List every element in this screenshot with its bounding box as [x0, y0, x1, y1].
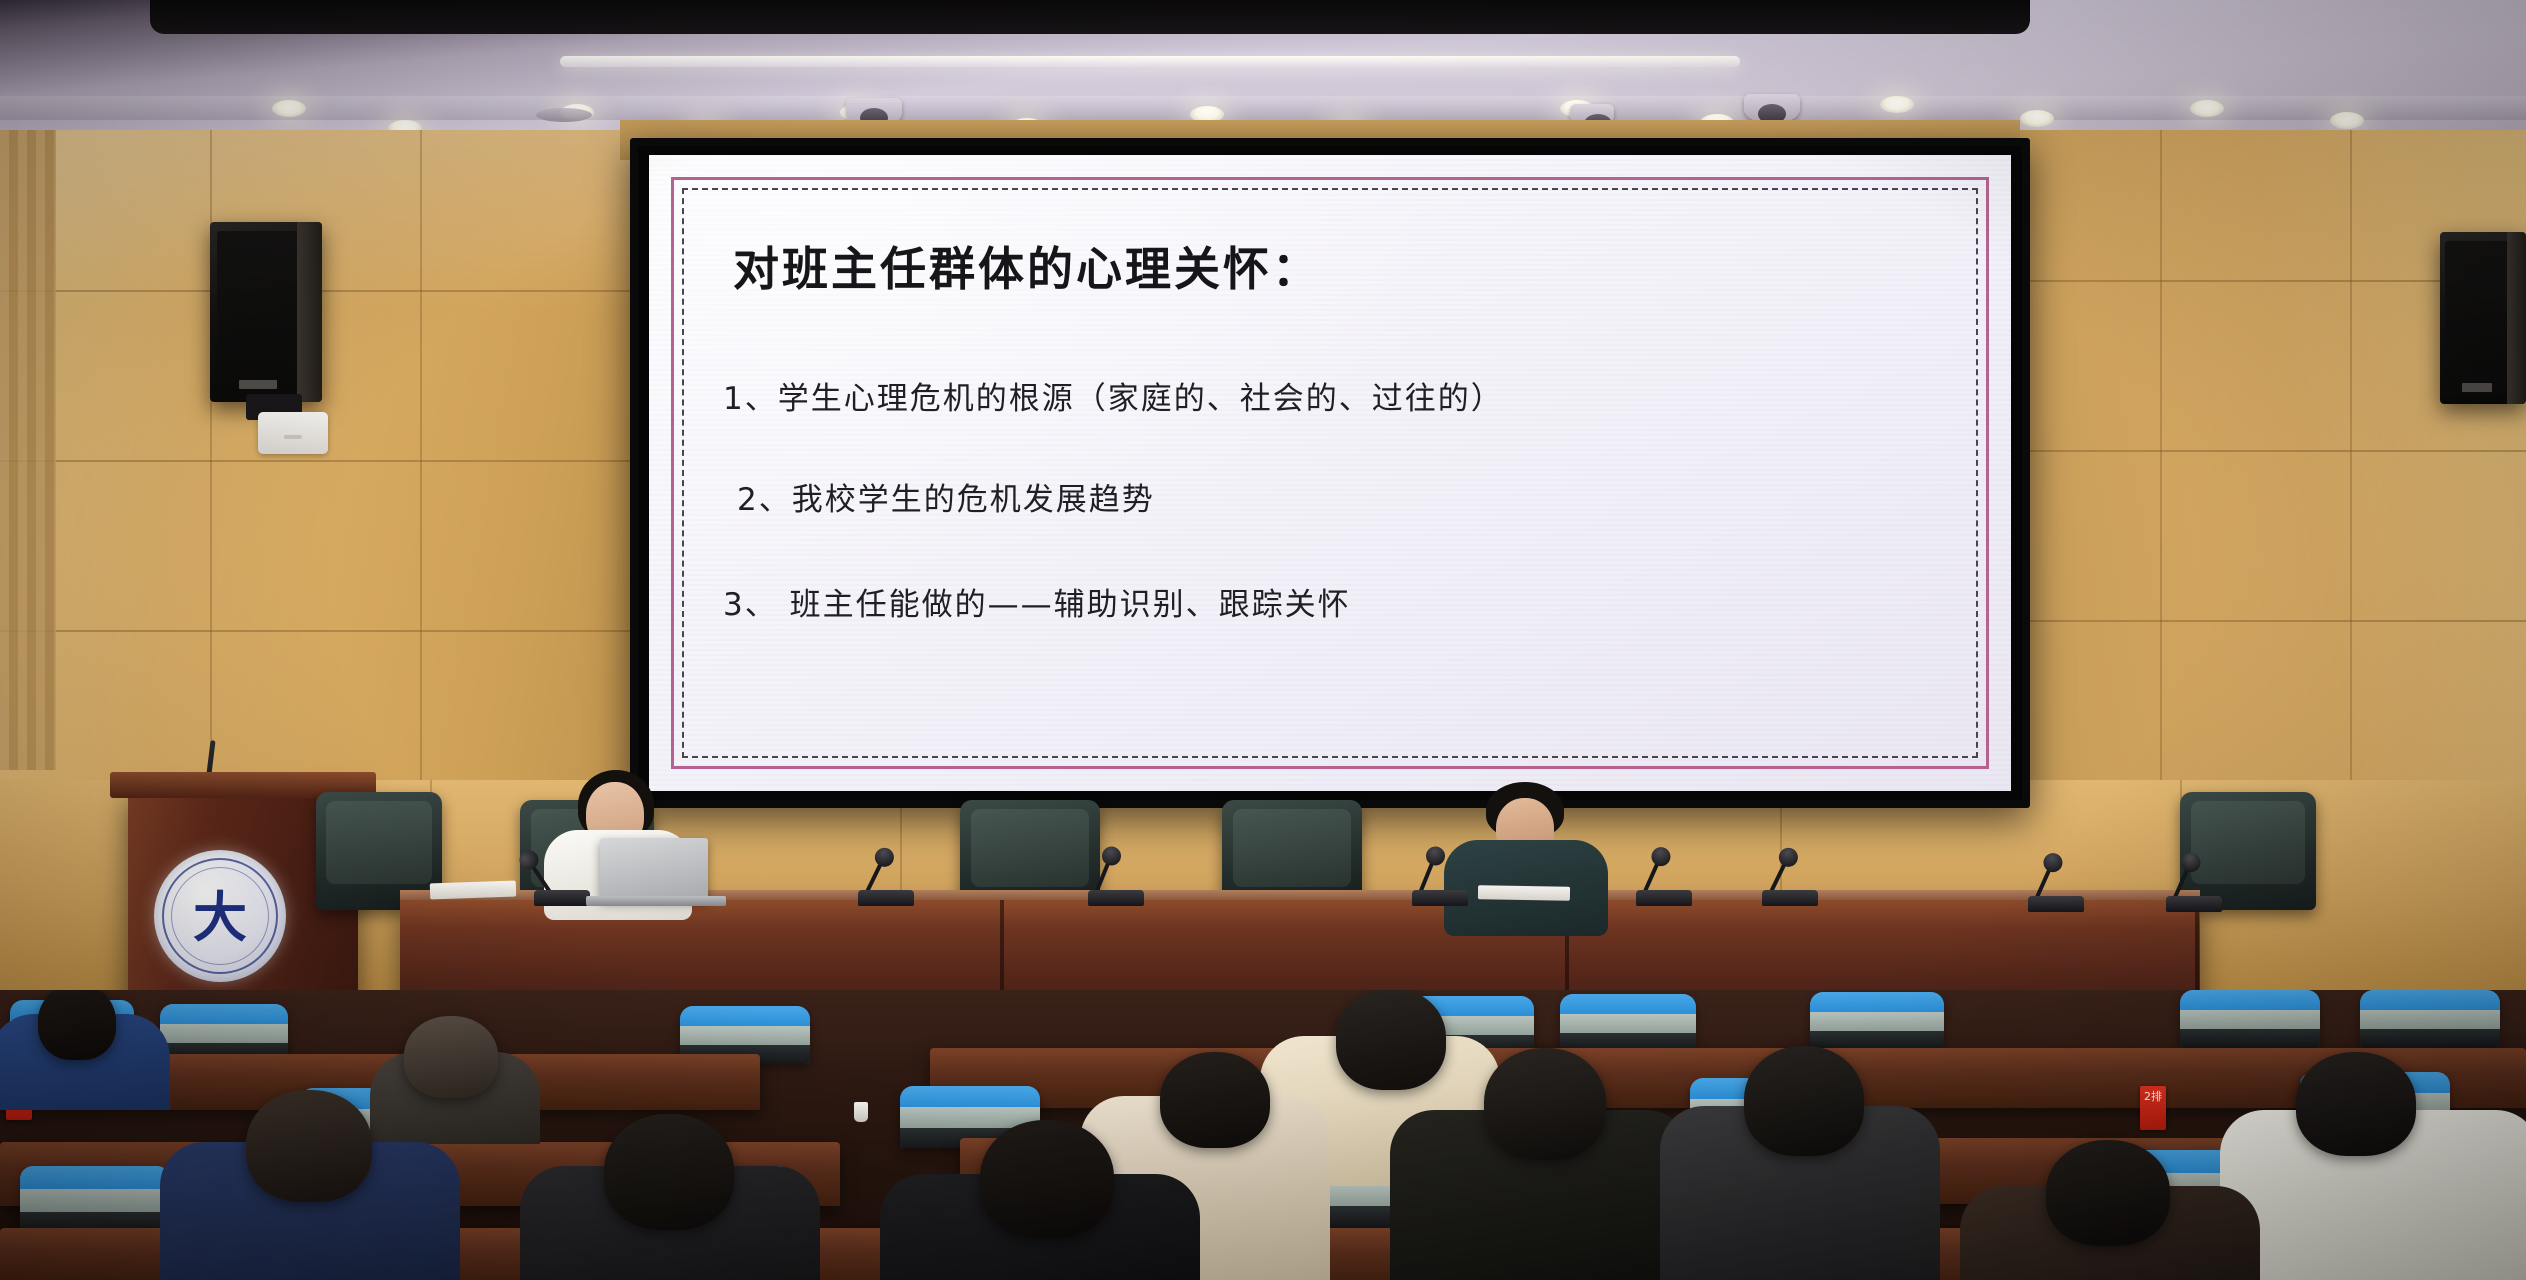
downlight-icon	[2020, 110, 2054, 127]
wall-panel-seam	[0, 630, 680, 632]
wall-wood-wainscot	[0, 130, 56, 770]
chair-pad	[326, 801, 432, 884]
attendee-head	[1744, 1046, 1864, 1156]
speaker-grille	[2445, 241, 2512, 396]
row-number-label: 2排	[2140, 1086, 2166, 1103]
presenter-laptop	[600, 838, 708, 900]
speaker-side	[2507, 232, 2526, 404]
microphone-base	[534, 890, 590, 906]
slide-bullet-3: 3、 班主任能做的——辅助识别、跟踪关怀	[723, 579, 1955, 624]
microphone-base	[2166, 896, 2222, 912]
downlight-icon	[1880, 96, 1914, 113]
audience-area: 3排 2排 1排 4排 5排	[0, 990, 2526, 1280]
conference-hall-photo: 对班主任群体的心理关怀： 1、学生心理危机的根源（家庭的、社会的、过往的） 2、…	[0, 0, 2526, 1280]
attendee-head	[1336, 990, 1446, 1090]
slide-bullet-1: 1、学生心理危机的根源（家庭的、社会的、过往的）	[723, 373, 1955, 418]
microphone-base	[1088, 890, 1144, 906]
chair-pad	[1233, 809, 1351, 887]
ceiling-vent	[536, 108, 592, 122]
projection-screen: 对班主任群体的心理关怀： 1、学生心理危机的根源（家庭的、社会的、过往的） 2、…	[630, 138, 2030, 808]
microphone-base	[2028, 896, 2084, 912]
slide-content: 对班主任群体的心理关怀： 1、学生心理危机的根源（家庭的、社会的、过往的） 2、…	[715, 211, 1955, 751]
microphone-base	[1636, 890, 1692, 906]
ceiling-riser	[0, 96, 2526, 120]
attendee-head	[980, 1120, 1114, 1238]
laptop-base	[586, 896, 726, 906]
attendee-head	[404, 1016, 498, 1098]
attendee-head	[604, 1114, 734, 1230]
attendee-head	[2046, 1140, 2170, 1246]
man-papers	[1478, 885, 1570, 901]
downlight-icon	[272, 100, 306, 117]
wall-sheen	[0, 130, 680, 430]
wall-speaker-right	[2440, 232, 2526, 404]
audience-seat	[2180, 990, 2320, 1048]
slide-bullet-2: 2、我校学生的危机发展趋势	[737, 474, 1955, 519]
wall-control-plate	[258, 412, 328, 454]
chair-pad	[971, 809, 1089, 887]
emblem-character: 大	[193, 891, 247, 945]
microphone-base	[1762, 890, 1818, 906]
ceiling-recess	[150, 0, 2030, 34]
attendee-head	[38, 990, 116, 1060]
water-cup	[854, 1102, 868, 1122]
microphone-base	[858, 890, 914, 906]
attendee-head	[1484, 1048, 1606, 1160]
downlight-icon	[2330, 112, 2364, 129]
microphone-base	[1412, 890, 1468, 906]
chair-pad	[2191, 801, 2305, 884]
attendee-head	[2296, 1052, 2416, 1156]
attendee-head	[1160, 1052, 1270, 1148]
ceiling-strip-light	[560, 56, 1740, 67]
presenter-papers	[430, 881, 517, 900]
audience-seat	[1810, 992, 1944, 1050]
audience-seat	[2360, 990, 2500, 1048]
audience-seat	[1560, 994, 1696, 1052]
speaker-grille	[217, 231, 304, 393]
wall-panel-seam	[0, 460, 680, 462]
row-number-tag: 2排	[2140, 1086, 2166, 1130]
speaker-side	[297, 222, 322, 402]
audience-seat	[20, 1166, 170, 1234]
panel-chair	[2180, 792, 2316, 910]
slide-title: 对班主任群体的心理关怀：	[733, 233, 1955, 299]
speaker-badge	[2462, 383, 2491, 392]
speaker-badge	[239, 380, 277, 389]
downlight-icon	[2190, 100, 2224, 117]
school-emblem: 大	[154, 850, 286, 982]
wall-panel-seam	[1980, 620, 2526, 622]
wall-panel-seam	[0, 290, 680, 292]
wall-panel-seam	[1980, 450, 2526, 452]
attendee-head	[246, 1090, 372, 1202]
wall-speaker-left	[210, 222, 322, 402]
presentation-slide: 对班主任群体的心理关怀： 1、学生心理危机的根源（家庭的、社会的、过往的） 2、…	[649, 155, 2011, 791]
